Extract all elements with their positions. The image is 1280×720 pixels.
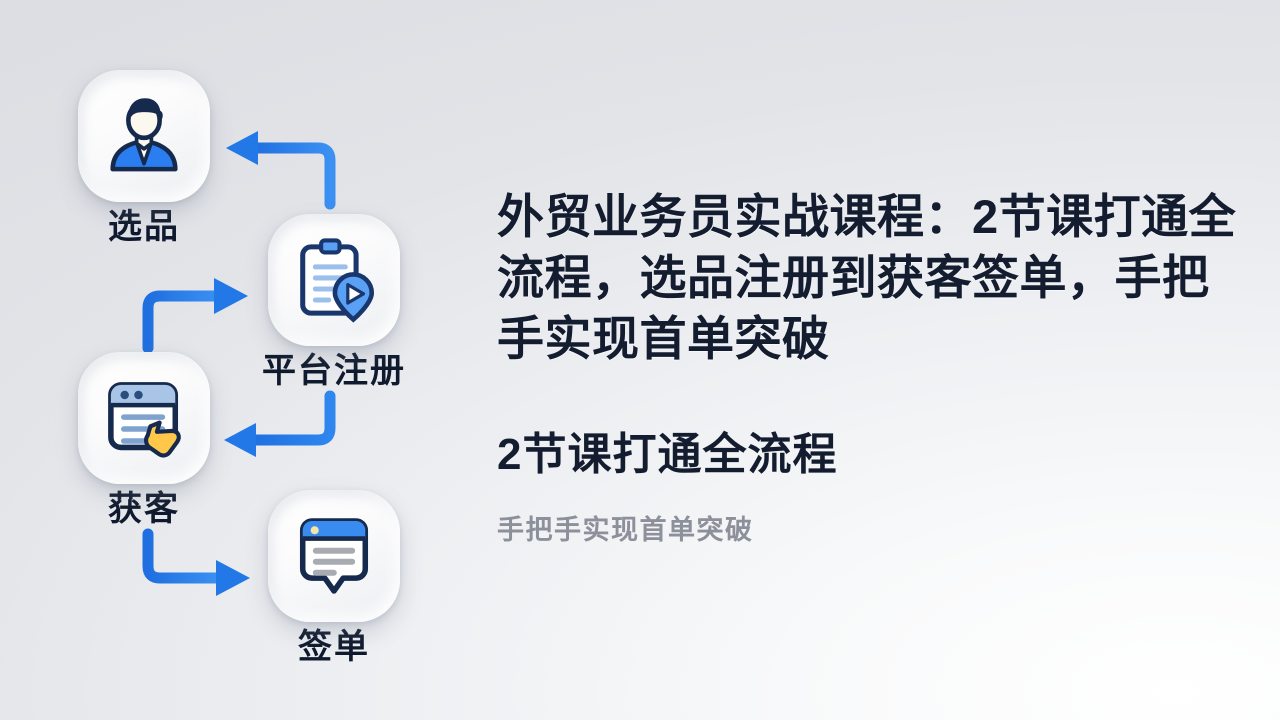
flow-node-label: 选品 [78, 210, 210, 246]
arrow-huoke-to-pingtai [148, 278, 248, 348]
flow-node-qiandan[interactable]: 签单 [268, 490, 400, 666]
arrow-pingtai-to-huoke [224, 396, 330, 457]
process-flow-diagram: 选品 平台注册 [0, 0, 480, 720]
browser-click-icon [98, 372, 190, 464]
arrow-pingtai-to-xuanpin [226, 131, 330, 204]
businessman-icon [98, 90, 190, 182]
flow-node-label: 平台注册 [262, 354, 452, 390]
flow-node-tile [268, 490, 400, 622]
subheadline-group: 2节课打通全流程 手把手实现首单突破 [497, 429, 1245, 547]
flow-node-tile [78, 70, 210, 202]
clipboard-location-icon [288, 234, 380, 326]
supporting-caption: 手把手实现首单突破 [497, 508, 1245, 547]
arrow-huoke-to-qiandan [148, 534, 250, 596]
copy-block: 外贸业务员实战课程：2节课打通全流程，选品注册到获客签单，手把手实现首单突破 2… [497, 186, 1245, 547]
speech-bubble-icon [288, 510, 380, 602]
flow-node-label: 获客 [78, 492, 210, 528]
flow-node-xuanpin[interactable]: 选品 [78, 70, 210, 246]
flow-node-huoke[interactable]: 获客 [78, 352, 210, 528]
poster-canvas: 选品 平台注册 [0, 0, 1280, 720]
flow-node-pingtai[interactable]: 平台注册 [268, 214, 452, 390]
flow-node-tile [268, 214, 400, 346]
flow-node-label: 签单 [268, 630, 400, 666]
headline: 外贸业务员实战课程：2节课打通全流程，选品注册到获客签单，手把手实现首单突破 [497, 186, 1245, 369]
subheadline: 2节课打通全流程 [497, 429, 1245, 482]
flow-node-tile [78, 352, 210, 484]
